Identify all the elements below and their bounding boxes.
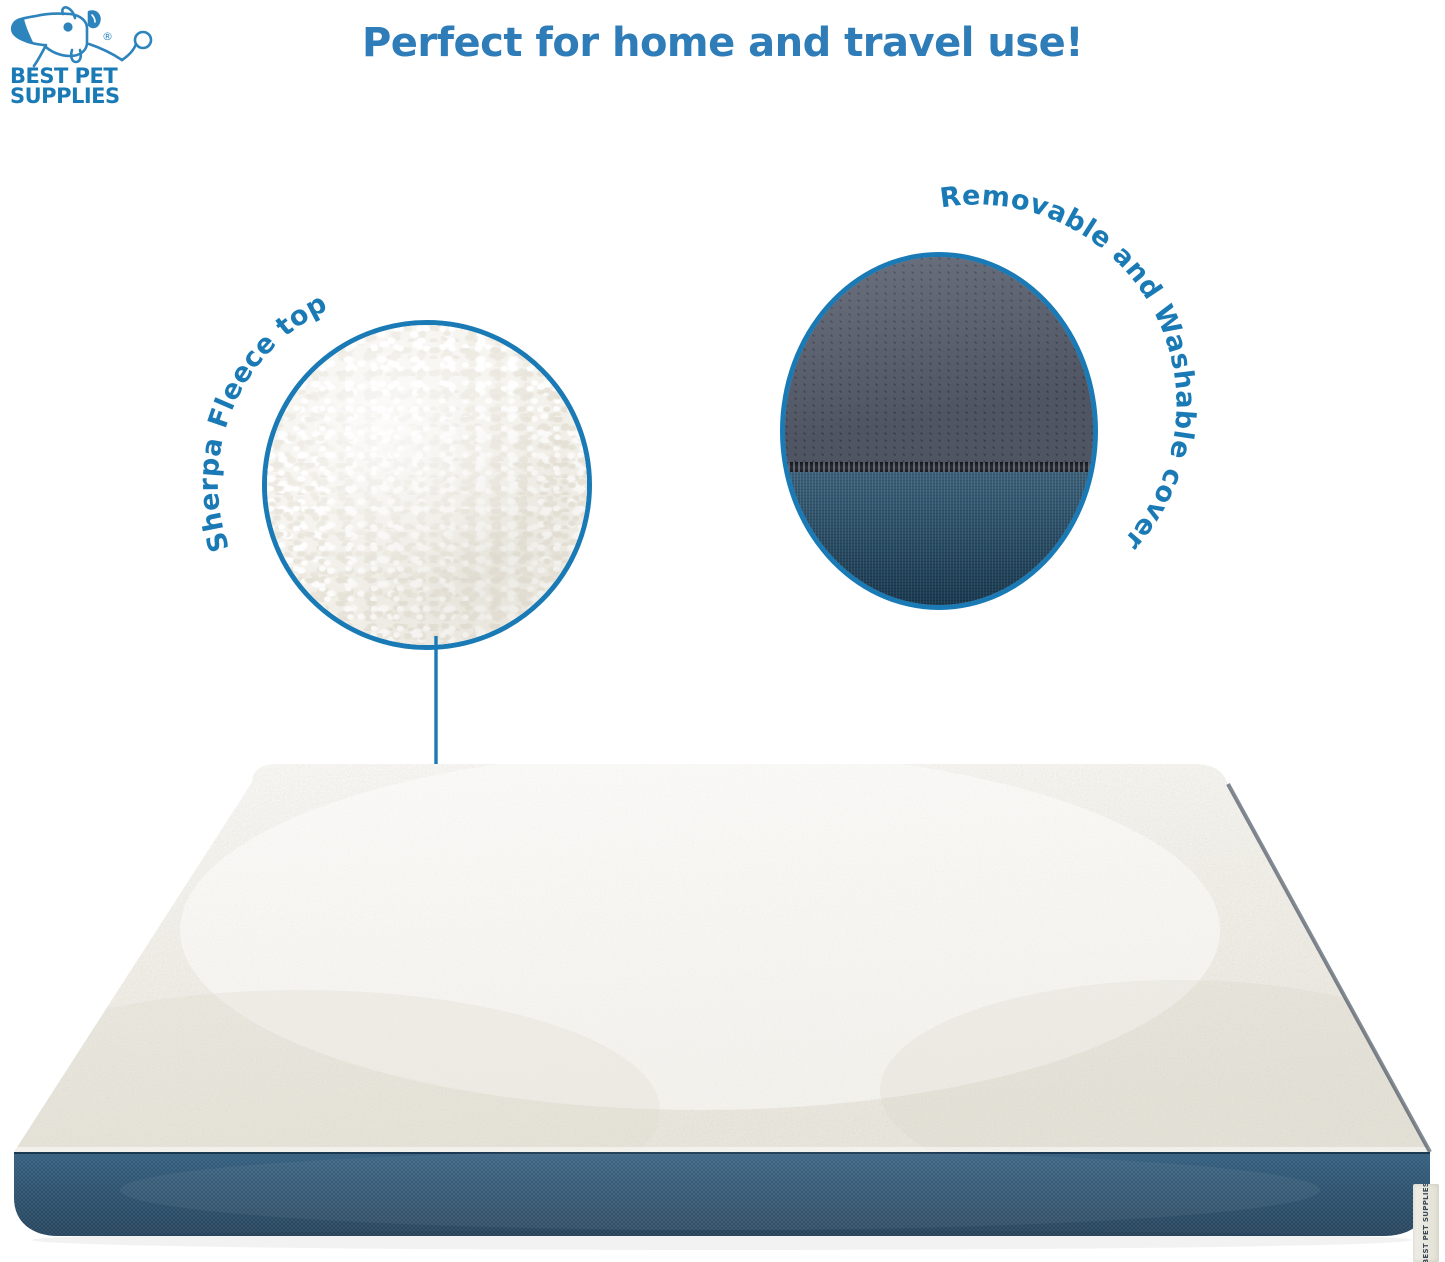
callout-2-label: Removable and Washable cover: [938, 180, 1201, 556]
callout-1-label: Sherpa Fleece top: [194, 288, 332, 556]
fabric-tag-text: BEST PET SUPPLIES: [1422, 1184, 1430, 1262]
svg-text:Removable and Washable cover: Removable and Washable cover: [938, 180, 1201, 556]
svg-text:Sherpa Fleece top: Sherpa Fleece top: [194, 288, 332, 556]
brand-name-line2: SUPPLIES: [10, 86, 160, 106]
brand-wordmark: BEST PET SUPPLIES: [10, 66, 160, 106]
bed-side-band: [0, 1146, 1445, 1242]
cover-label-arc: Removable and Washable cover: [780, 228, 1140, 628]
brand-fabric-tag: BEST PET SUPPLIES: [1413, 1184, 1439, 1262]
bed-shadow: [32, 1230, 1412, 1250]
callout-removable-washable-cover: Removable and Washable cover: [780, 228, 1110, 610]
product-dog-bed: BEST PET SUPPLIES: [0, 760, 1445, 1262]
brand-name-line1: BEST PET: [10, 66, 160, 86]
sherpa-label-arc: Sherpa Fleece top: [262, 320, 592, 650]
callout-sherpa-fleece-top: Sherpa Fleece top: [262, 320, 592, 650]
product-feature-graphic: ® BEST PET SUPPLIES Perfect for home and…: [0, 0, 1445, 1262]
headline-text: Perfect for home and travel use!: [0, 20, 1445, 66]
